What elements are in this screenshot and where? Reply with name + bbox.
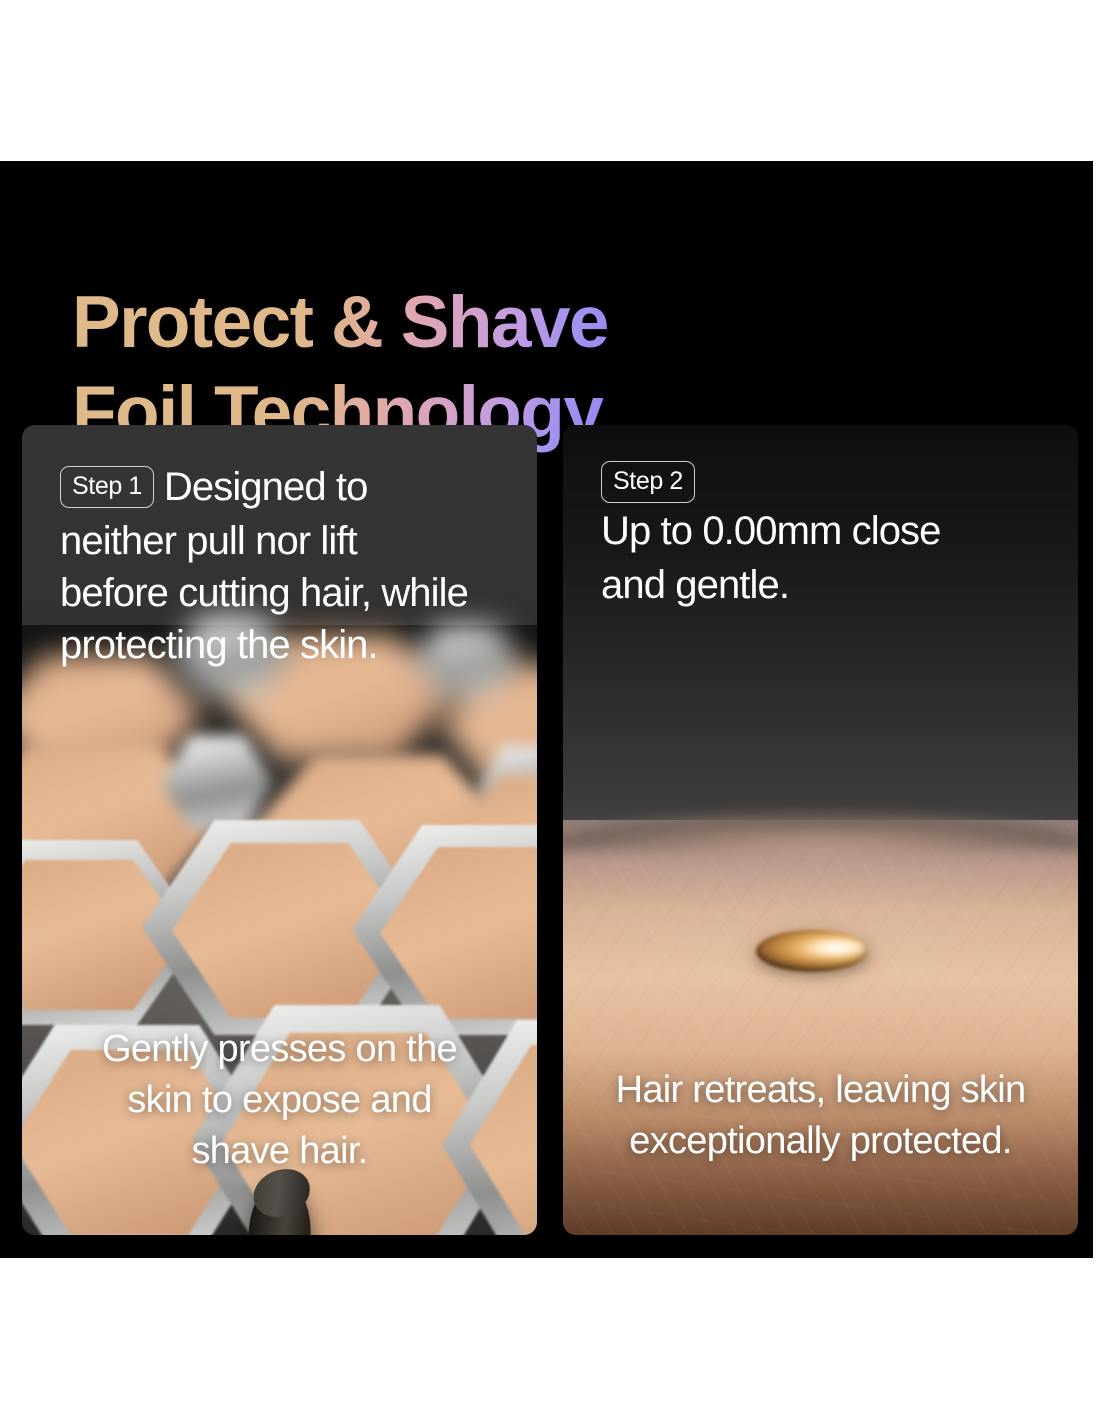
step-1-heading-inline: Designed to [164, 465, 368, 509]
steps-card-row: Step 1Designed to neither pull nor lift … [22, 425, 1078, 1235]
step-card-1[interactable]: Step 1Designed to neither pull nor lift … [22, 425, 537, 1235]
step-1-heading-rest: neither pull nor lift before cutting hai… [60, 515, 511, 671]
skin-texture-overlay [563, 820, 1078, 1235]
step-card-2[interactable]: Step 2 Up to 0.00mm close and gentle. Ha… [563, 425, 1078, 1235]
step-1-caption: Gently presses on the skin to expose and… [48, 1024, 511, 1177]
black-content-stage: Protect & Shave Foil Technology. [0, 161, 1093, 1258]
step-2-heading-inline: Up to 0.00mm close [601, 505, 1052, 557]
follicle-opening [756, 930, 868, 972]
step-1-heading-block: Step 1Designed to neither pull nor lift … [60, 461, 511, 671]
step-2-heading-rest: and gentle. [601, 559, 1052, 611]
step-2-heading-block: Step 2 Up to 0.00mm close and gentle. [601, 461, 1052, 611]
step-2-caption: Hair retreats, leaving skin exceptionall… [589, 1065, 1052, 1167]
step-2-badge: Step 2 [601, 461, 695, 503]
step-1-badge: Step 1 [60, 466, 154, 508]
